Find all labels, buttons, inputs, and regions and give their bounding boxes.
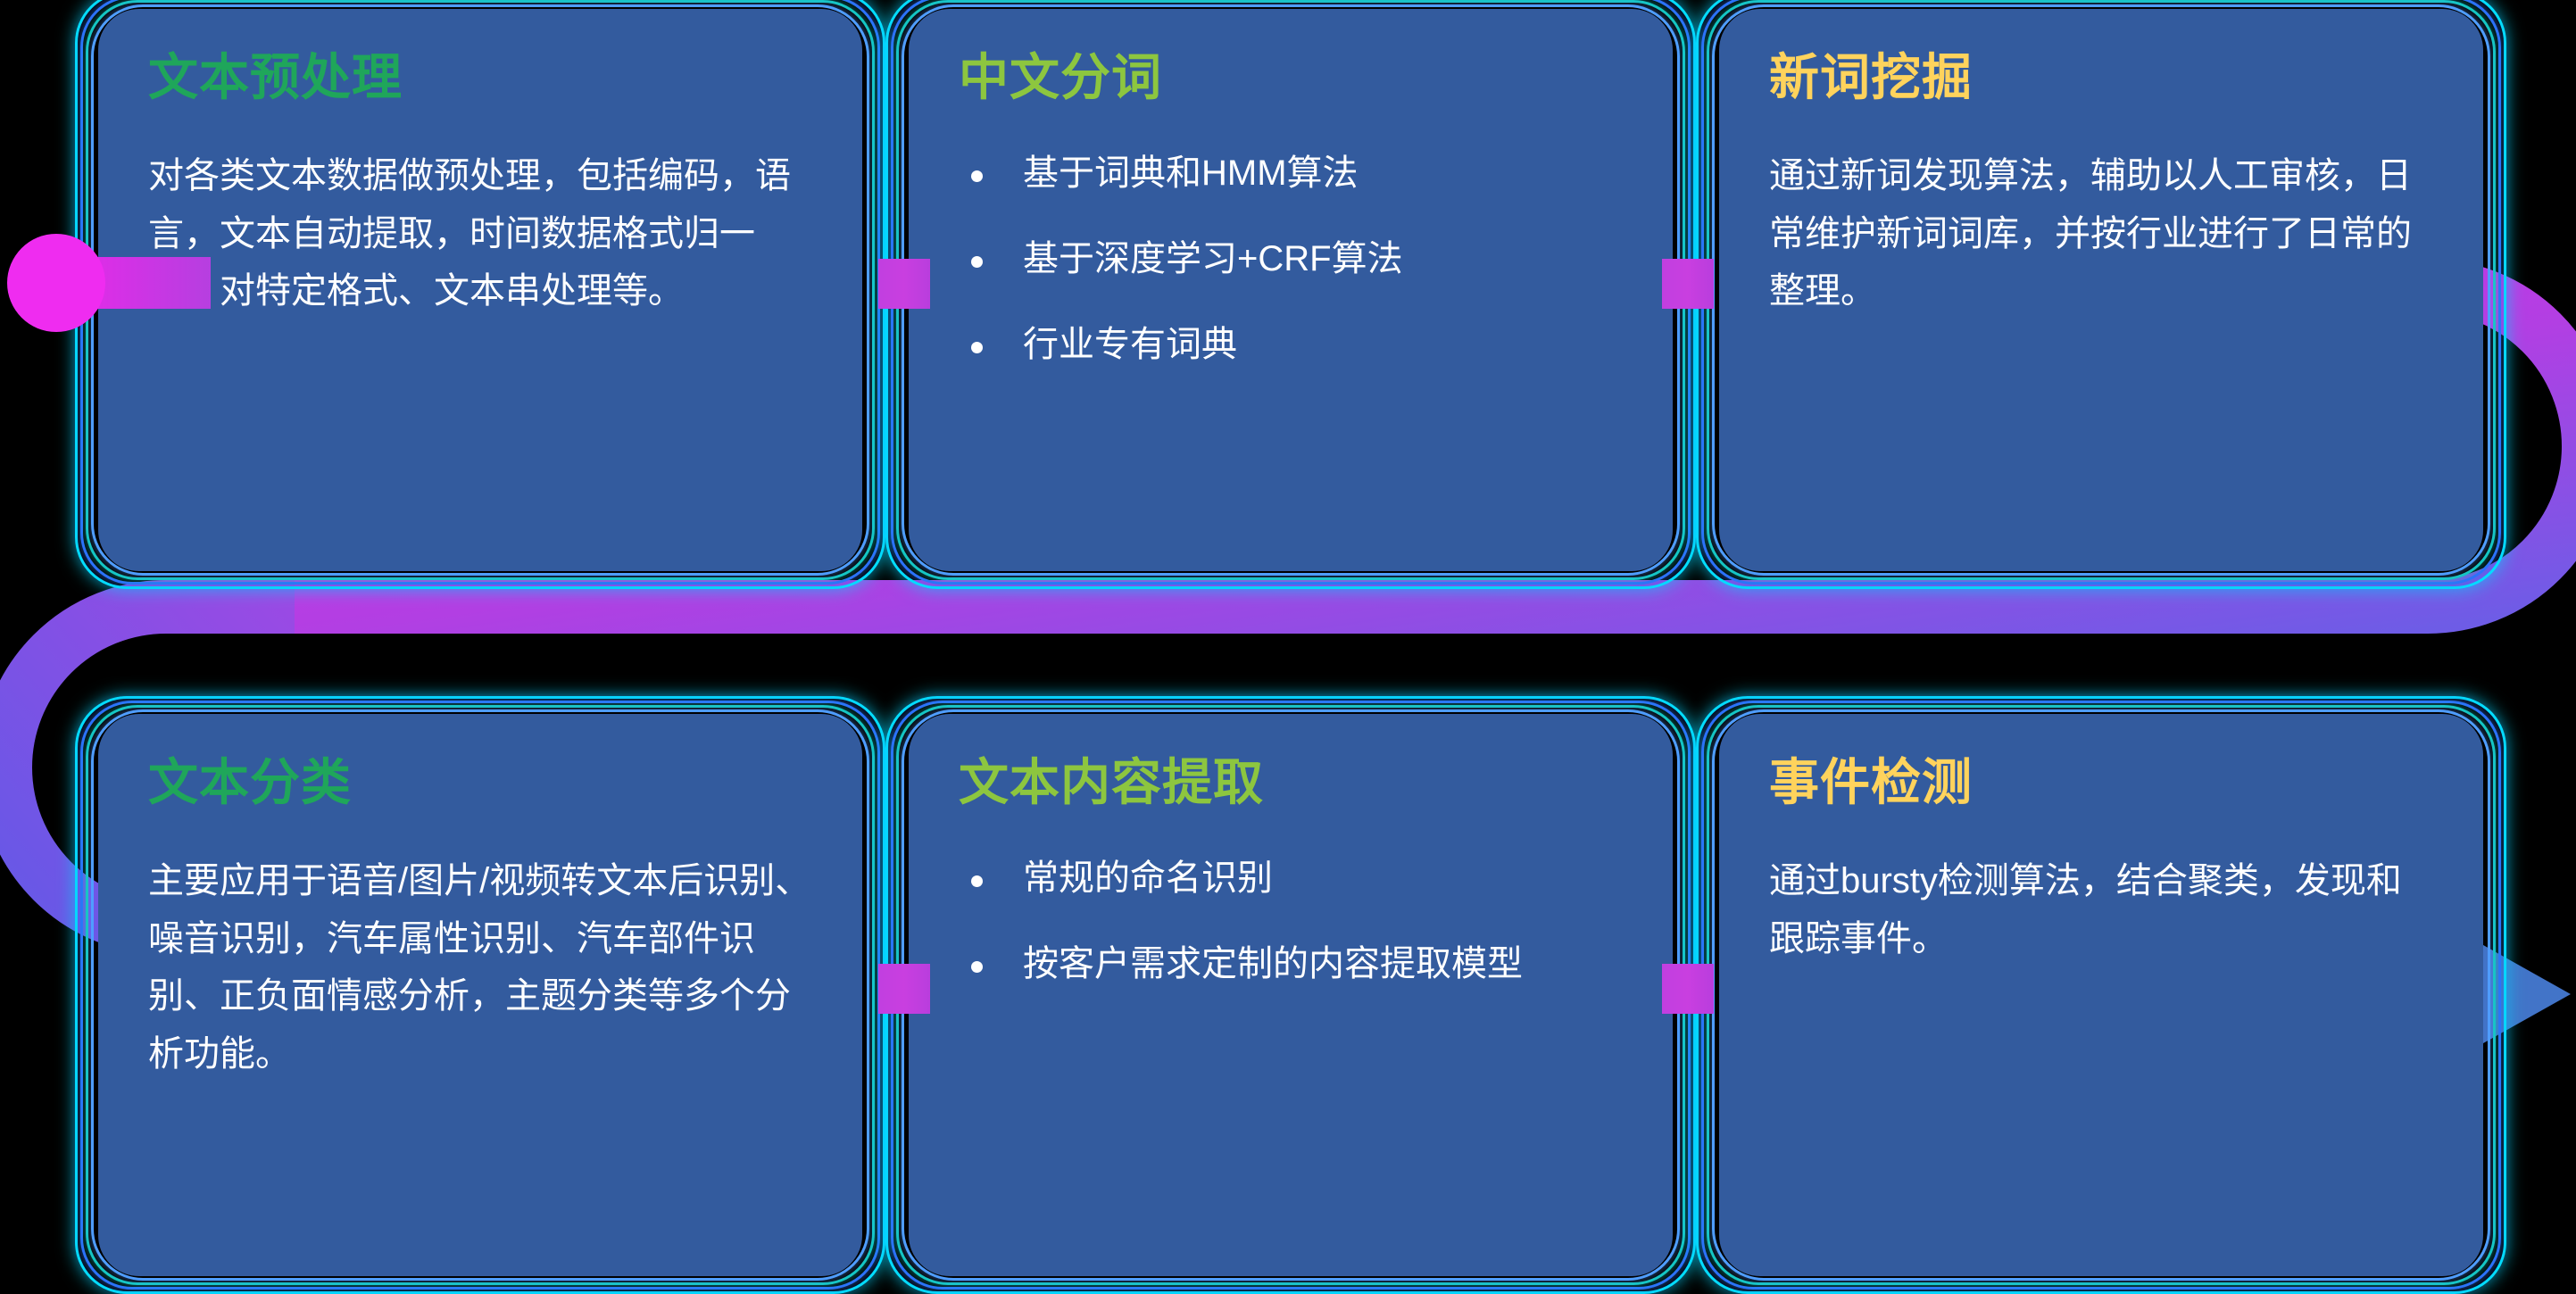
- card-surface[interactable]: 文本预处理 对各类文本数据做预处理，包括编码，语言，文本自动提取，时间数据格式归…: [98, 9, 862, 571]
- card-surface[interactable]: 文本内容提取 常规的命名识别 按客户需求定制的内容提取模型: [909, 714, 1673, 1276]
- card-link-5-6: [1662, 964, 1714, 1014]
- card-text-content-extraction[interactable]: 文本内容提取 常规的命名识别 按客户需求定制的内容提取模型: [909, 714, 1673, 1276]
- card-surface[interactable]: 事件检测 通过bursty检测算法，结合聚类，发现和跟踪事件。: [1719, 714, 2483, 1276]
- card-link-1-2: [878, 259, 930, 309]
- card-bullet-list: 常规的命名识别 按客户需求定制的内容提取模型: [959, 852, 1623, 990]
- card-title: 文本分类: [148, 755, 812, 811]
- card-title: 新词挖掘: [1769, 50, 2433, 106]
- diagram-canvas: 文本预处理 对各类文本数据做预处理，包括编码，语言，文本自动提取，时间数据格式归…: [0, 0, 2576, 1277]
- list-item: 常规的命名识别: [959, 852, 1623, 904]
- card-text-preprocessing[interactable]: 文本预处理 对各类文本数据做预处理，包括编码，语言，文本自动提取，时间数据格式归…: [98, 9, 862, 571]
- card-surface[interactable]: 中文分词 基于词典和HMM算法 基于深度学习+CRF算法 行业专有词典: [909, 9, 1673, 571]
- card-surface[interactable]: 新词挖掘 通过新词发现算法，辅助以人工审核，日常维护新词词库，并按行业进行了日常…: [1719, 9, 2483, 571]
- card-title: 事件检测: [1769, 755, 2433, 811]
- flow-row-2: 文本分类 主要应用于语音/图片/视频转文本后识别、噪音识别，汽车属性识别、汽车部…: [98, 714, 2483, 1276]
- card-body-text: 通过bursty检测算法，结合聚类，发现和跟踪事件。: [1769, 852, 2433, 968]
- start-dot-icon: [7, 234, 105, 332]
- card-text-classification[interactable]: 文本分类 主要应用于语音/图片/视频转文本后识别、噪音识别，汽车属性识别、汽车部…: [98, 714, 862, 1276]
- card-title: 文本预处理: [148, 50, 812, 106]
- card-body-text: 主要应用于语音/图片/视频转文本后识别、噪音识别，汽车属性识别、汽车部件识别、正…: [148, 852, 812, 1083]
- card-title: 中文分词: [959, 50, 1623, 106]
- list-item: 按客户需求定制的内容提取模型: [959, 938, 1623, 990]
- card-link-4-5: [878, 964, 930, 1014]
- flow-row-1: 文本预处理 对各类文本数据做预处理，包括编码，语言，文本自动提取，时间数据格式归…: [98, 9, 2483, 571]
- card-bullet-list: 基于词典和HMM算法 基于深度学习+CRF算法 行业专有词典: [959, 147, 1623, 370]
- card-link-2-3: [1662, 259, 1714, 309]
- card-body-text: 通过新词发现算法，辅助以人工审核，日常维护新词词库，并按行业进行了日常的整理。: [1769, 147, 2433, 320]
- card-body-text: 对各类文本数据做预处理，包括编码，语言，文本自动提取，时间数据格式归一化；对特定…: [148, 147, 812, 320]
- card-event-detection[interactable]: 事件检测 通过bursty检测算法，结合聚类，发现和跟踪事件。: [1719, 714, 2483, 1276]
- list-item: 行业专有词典: [959, 319, 1623, 370]
- list-item: 基于深度学习+CRF算法: [959, 233, 1623, 285]
- card-surface[interactable]: 文本分类 主要应用于语音/图片/视频转文本后识别、噪音识别，汽车属性识别、汽车部…: [98, 714, 862, 1276]
- card-chinese-word-segmentation[interactable]: 中文分词 基于词典和HMM算法 基于深度学习+CRF算法 行业专有词典: [909, 9, 1673, 571]
- list-item: 基于词典和HMM算法: [959, 147, 1623, 199]
- card-new-word-discovery[interactable]: 新词挖掘 通过新词发现算法，辅助以人工审核，日常维护新词词库，并按行业进行了日常…: [1719, 9, 2483, 571]
- card-title: 文本内容提取: [959, 755, 1623, 811]
